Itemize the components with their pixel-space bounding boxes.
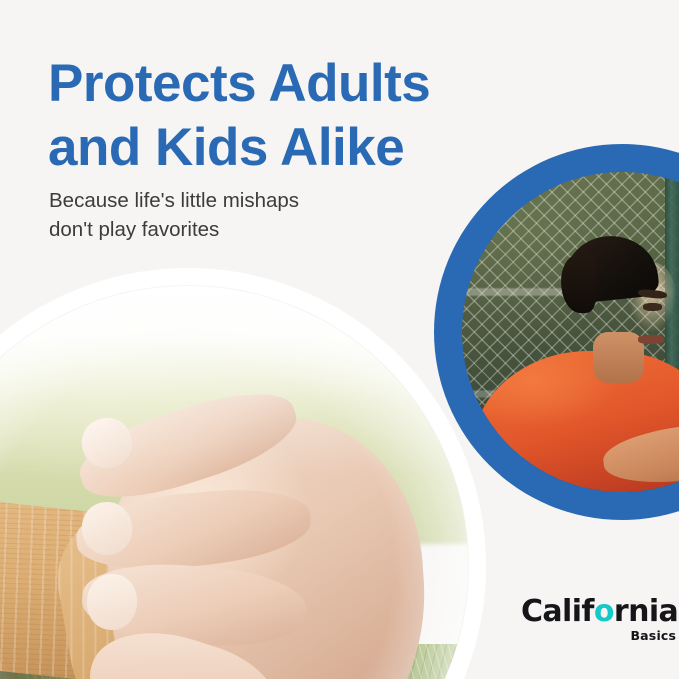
page-subtitle: Because life's little mishaps don't play… (49, 186, 379, 244)
brand-logo: California Basics (521, 596, 678, 643)
page-title: Protects Adults and Kids Alike (48, 52, 478, 180)
athlete-photo-ring (434, 144, 679, 520)
brand-name-part2: rnia (614, 594, 678, 629)
brand-name: California (521, 596, 678, 628)
athlete-mouth (638, 335, 664, 343)
brand-name-accent-o: o (594, 594, 614, 629)
athlete-hair-side (561, 255, 596, 313)
athlete-eye (643, 303, 662, 311)
product-infographic-canvas: Protects Adults and Kids Alike Because l… (0, 0, 679, 679)
brand-name-part1: Calif (521, 594, 594, 629)
bandaged-wrist-photo (0, 286, 468, 679)
brand-subtitle: Basics (521, 629, 678, 643)
athlete-photo (462, 172, 679, 492)
